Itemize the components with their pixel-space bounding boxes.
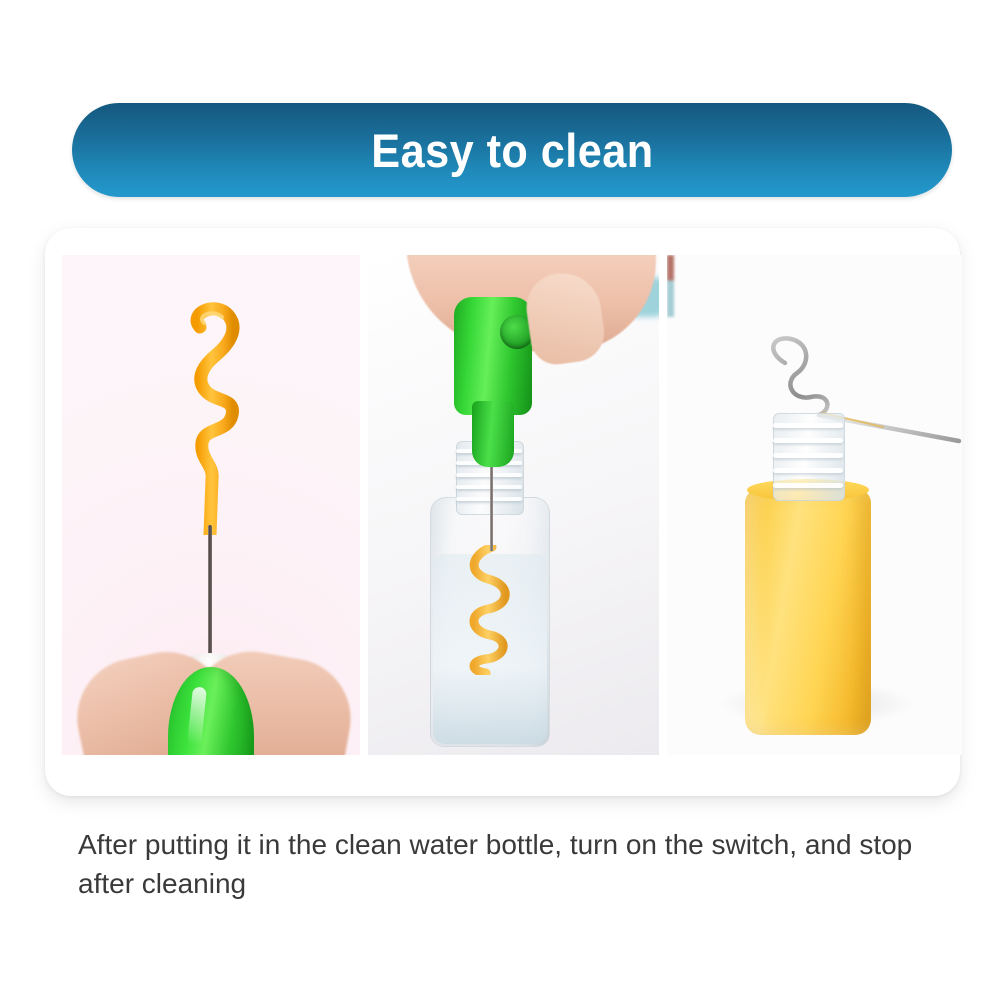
gallery-card (45, 228, 960, 796)
bottle-body (745, 489, 871, 735)
gallery-image-whisk-closeup (62, 255, 360, 755)
bottle-thread (773, 468, 843, 473)
gallery-image-whisk-in-bottle (368, 255, 659, 755)
bottle-thread (456, 473, 522, 477)
page-title: Easy to clean (371, 127, 653, 174)
bottle-thread (773, 438, 843, 443)
bottle-thread (773, 483, 843, 488)
handle-neck (472, 401, 514, 467)
bottle-thread (773, 453, 843, 458)
section-header-banner: Easy to clean (72, 103, 952, 197)
bottle-thread (456, 485, 522, 489)
instruction-caption: After putting it in the clean water bott… (78, 826, 918, 903)
edge-sliver (667, 255, 674, 317)
photo-strip (62, 255, 962, 755)
orange-whisk-coil-graphic (170, 299, 250, 535)
bottle-thread (456, 497, 522, 501)
metal-shaft (208, 525, 212, 673)
orange-whisk-coil-graphic (460, 545, 522, 675)
gallery-image-clean-result (667, 255, 962, 755)
bottle-thread (773, 423, 843, 428)
bottle-with-yellow-liquid (745, 413, 871, 735)
metal-shaft (490, 461, 493, 551)
